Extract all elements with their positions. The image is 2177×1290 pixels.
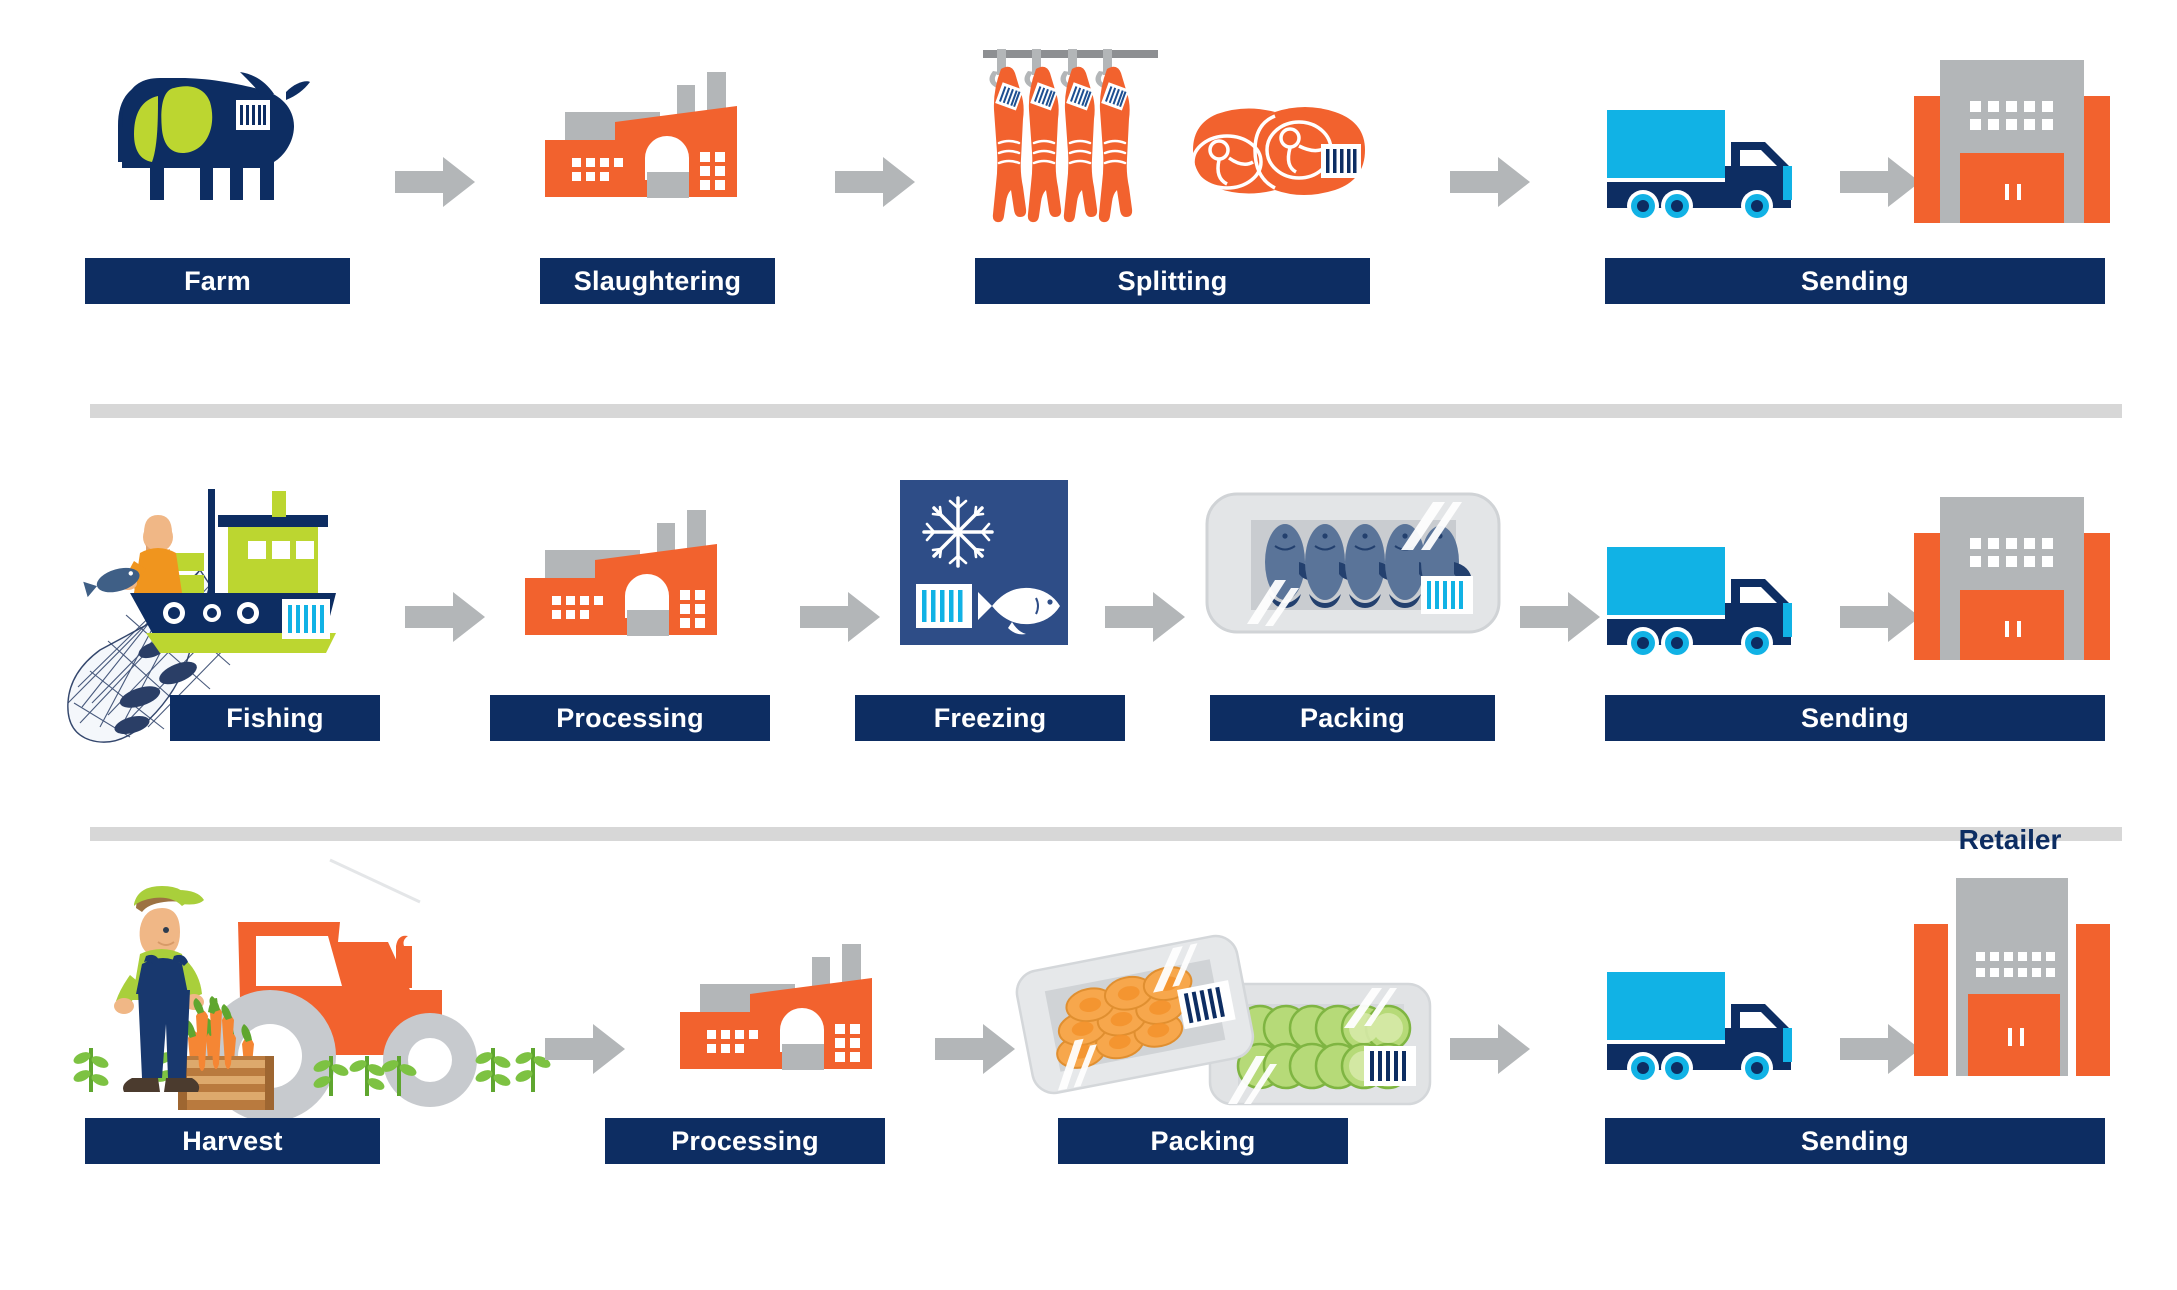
- flow-arrow-icon: [1840, 155, 1920, 210]
- factory-icon: [505, 508, 755, 658]
- step-label-processing-produce: Processing: [605, 1118, 885, 1164]
- step-label-splitting: Splitting: [975, 258, 1370, 304]
- vegetable-tray-icon: [1020, 942, 1440, 1122]
- flow-arrow-icon: [1450, 1022, 1530, 1077]
- farmer-tractor-icon: [70, 860, 570, 1150]
- row-divider: [90, 827, 2122, 841]
- retail-store-icon: [1912, 876, 2112, 1076]
- flow-arrow-icon: [835, 155, 915, 210]
- step-label-fishing: Fishing: [170, 695, 380, 741]
- flow-arrow-icon: [800, 590, 880, 645]
- step-label-processing-fish: Processing: [490, 695, 770, 741]
- factory-icon: [660, 942, 910, 1092]
- truck-icon: [1605, 108, 1830, 220]
- step-label-packing-fish: Packing: [1210, 695, 1495, 741]
- step-label-sending-fish: Sending: [1605, 695, 2105, 741]
- flow-arrow-icon: [395, 155, 475, 210]
- freezer-panel-icon: [900, 480, 1068, 645]
- step-label-packing-produce: Packing: [1058, 1118, 1348, 1164]
- flow-arrow-icon: [935, 1022, 1015, 1077]
- cow-icon: [70, 50, 310, 220]
- infographic-canvas: Farm: [0, 0, 2177, 1290]
- factory-icon: [525, 70, 775, 220]
- flow-arrow-icon: [1840, 590, 1920, 645]
- carcass-rack-icon: [975, 35, 1175, 225]
- fish-tray-icon: [1205, 488, 1505, 638]
- flow-arrow-icon: [1520, 590, 1600, 645]
- step-label-sending-meat: Sending: [1605, 258, 2105, 304]
- flow-arrow-icon: [1450, 155, 1530, 210]
- truck-icon: [1605, 970, 1830, 1082]
- step-label-sending-produce: Sending: [1605, 1118, 2105, 1164]
- flow-arrow-icon: [1840, 1022, 1920, 1077]
- meat-cuts-icon: [1175, 100, 1375, 210]
- row-meat-supply-chain: Farm: [0, 0, 2177, 400]
- truck-icon: [1605, 545, 1830, 657]
- step-label-harvest: Harvest: [85, 1118, 380, 1164]
- flow-arrow-icon: [1105, 590, 1185, 645]
- step-label-slaughtering: Slaughtering: [540, 258, 775, 304]
- row-divider: [90, 404, 2122, 418]
- retailer-label: Retailer: [1875, 820, 2145, 860]
- warehouse-icon: [1912, 58, 2112, 223]
- row-produce-supply-chain: Harvest: [0, 860, 2177, 1290]
- flow-arrow-icon: [545, 1022, 625, 1077]
- row-fish-supply-chain: Fishing: [0, 440, 2177, 810]
- warehouse-icon: [1912, 495, 2112, 660]
- step-label-farm: Farm: [85, 258, 350, 304]
- flow-arrow-icon: [405, 590, 485, 645]
- step-label-freezing: Freezing: [855, 695, 1125, 741]
